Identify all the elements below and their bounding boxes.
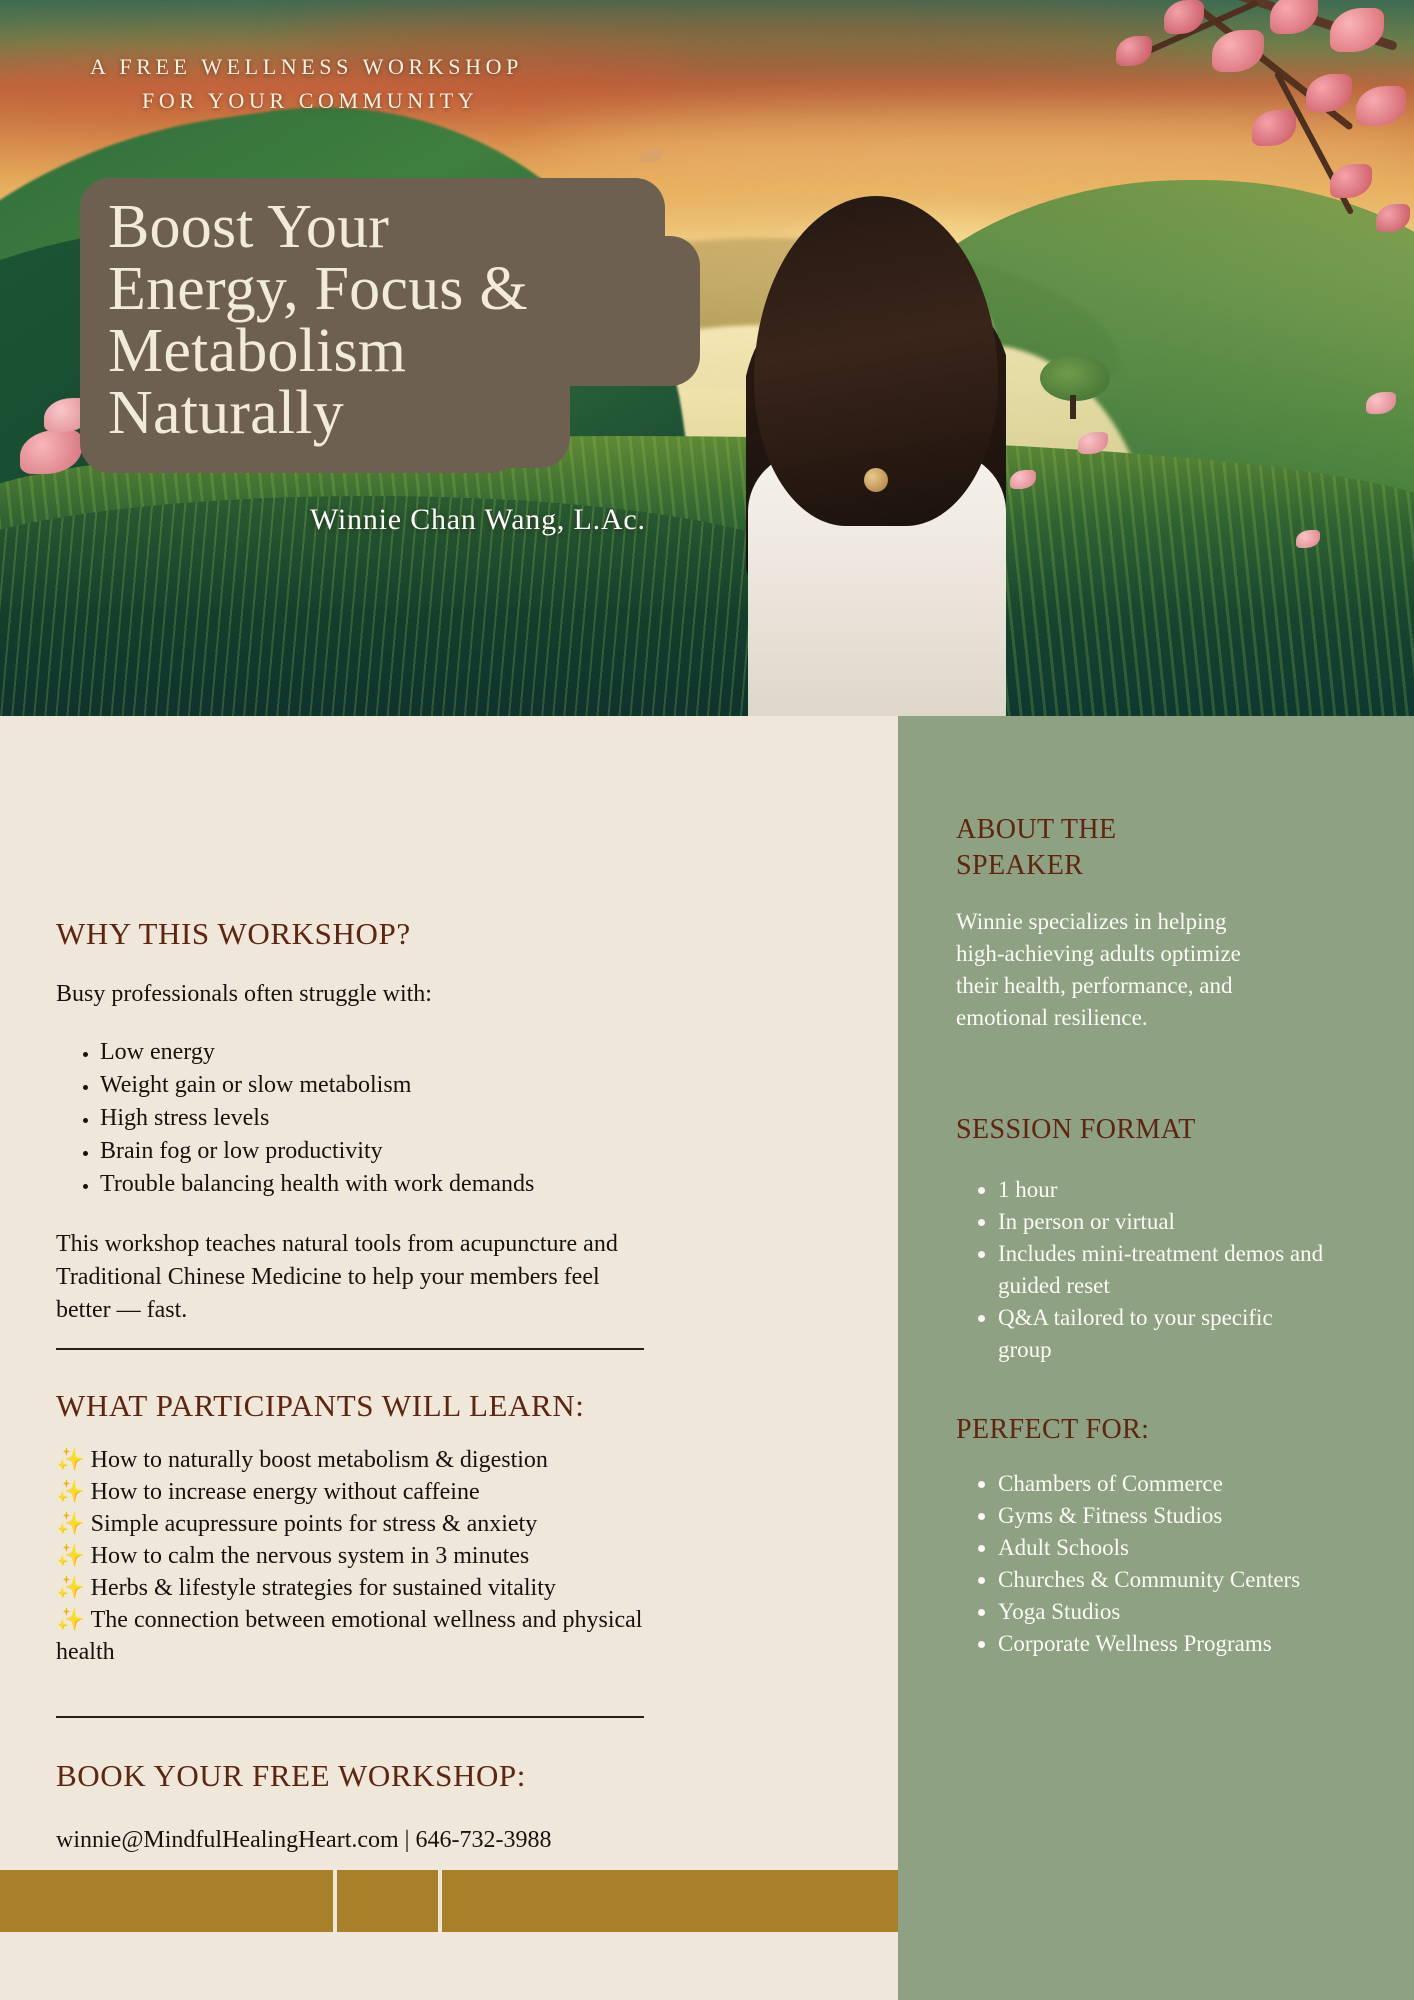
about-speaker-heading: ABOUT THE SPEAKER [956, 812, 1356, 884]
cloud-decoration [540, 120, 1414, 184]
list-item: Adult Schools [998, 1532, 1328, 1564]
title-line-2: Energy, Focus & [108, 258, 708, 320]
list-item: In person or virtual [998, 1206, 1328, 1238]
kicker-line-2: FOR YOUR COMMUNITY [142, 84, 790, 118]
list-item-label: How to calm the nervous system in 3 minu… [91, 1543, 530, 1569]
session-format-list: 1 hour In person or virtual Includes min… [956, 1174, 1328, 1366]
list-item: Chambers of Commerce [998, 1468, 1328, 1500]
kicker-text: A FREE WELLNESS WORKSHOP FOR YOUR COMMUN… [90, 50, 790, 118]
sparkle-icon: ✨ [56, 1575, 85, 1600]
list-item-label: How to increase energy without caffeine [91, 1479, 480, 1505]
list-item: ✨How to calm the nervous system in 3 min… [56, 1540, 656, 1572]
list-item: ✨Simple acupressure points for stress & … [56, 1508, 656, 1540]
why-workshop-intro: Busy professionals often struggle with: [56, 978, 656, 1011]
list-item: Brain fog or low productivity [100, 1135, 700, 1168]
about-heading-line-1: ABOUT THE [956, 812, 1356, 848]
list-item: Q&A tailored to your specific group [998, 1302, 1328, 1366]
sparkle-icon: ✨ [56, 1511, 85, 1536]
list-item: 1 hour [998, 1174, 1328, 1206]
title-line-1: Boost Your [108, 196, 708, 258]
perfect-for-list: Chambers of Commerce Gyms & Fitness Stud… [956, 1468, 1328, 1660]
sparkle-icon: ✨ [56, 1607, 85, 1632]
about-speaker-text: Winnie specializes in helping high-achie… [956, 906, 1266, 1034]
list-item-label: Herbs & lifestyle strategies for sustain… [91, 1575, 556, 1601]
list-item: Yoga Studios [998, 1596, 1328, 1628]
speaker-name: Winnie Chan Wang, L.Ac. [310, 503, 646, 537]
title-line-3: Metabolism [108, 320, 708, 382]
list-item: Trouble balancing health with work deman… [100, 1168, 700, 1201]
list-item-label: How to naturally boost metabolism & dige… [91, 1447, 548, 1473]
learn-list: ✨How to naturally boost metabolism & dig… [56, 1444, 656, 1668]
list-item: Churches & Community Centers [998, 1564, 1328, 1596]
sparkle-icon: ✨ [56, 1447, 85, 1472]
title-line-4: Naturally [108, 382, 708, 444]
list-item-label: The connection between emotional wellnes… [56, 1607, 642, 1665]
about-heading-line-2: SPEAKER [956, 848, 1356, 884]
sparkle-icon: ✨ [56, 1543, 85, 1568]
list-item: ✨The connection between emotional wellne… [56, 1604, 656, 1668]
learn-heading: WHAT PARTICIPANTS WILL LEARN: [56, 1388, 656, 1424]
session-format-heading: SESSION FORMAT [956, 1112, 1356, 1148]
why-workshop-bullet-list: Low energy Weight gain or slow metabolis… [56, 1036, 700, 1201]
list-item: Low energy [100, 1036, 700, 1069]
sparkle-icon: ✨ [56, 1479, 85, 1504]
poster-canvas: A FREE WELLNESS WORKSHOP FOR YOUR COMMUN… [0, 0, 1414, 2000]
list-item-label: Simple acupressure points for stress & a… [91, 1511, 538, 1537]
butterfly [640, 148, 662, 163]
list-item: Includes mini-treatment demos and guided… [998, 1238, 1328, 1302]
list-item: Corporate Wellness Programs [998, 1628, 1328, 1660]
right-sidebar-column: ABOUT THE SPEAKER Winnie specializes in … [898, 716, 1414, 2000]
list-item: ✨Herbs & lifestyle strategies for sustai… [56, 1572, 656, 1604]
bottom-gold-bar [0, 1870, 898, 1932]
perfect-for-heading: PERFECT FOR: [956, 1412, 1356, 1448]
contact-info[interactable]: winnie@MindfulHealingHeart.com | 646-732… [56, 1824, 696, 1857]
list-item: High stress levels [100, 1102, 700, 1135]
tree-trunk [1070, 395, 1076, 419]
page-title: Boost Your Energy, Focus & Metabolism Na… [108, 196, 708, 444]
list-item: ✨How to naturally boost metabolism & dig… [56, 1444, 656, 1476]
divider-1 [56, 1348, 644, 1350]
kicker-line-1: A FREE WELLNESS WORKSHOP [90, 54, 523, 79]
list-item: Gyms & Fitness Studios [998, 1500, 1328, 1532]
book-workshop-heading: BOOK YOUR FREE WORKSHOP: [56, 1758, 656, 1794]
divider-2 [56, 1716, 644, 1718]
speaker-portrait-photo [746, 196, 1006, 716]
why-workshop-heading: WHY THIS WORKSHOP? [56, 916, 656, 952]
list-item: ✨How to increase energy without caffeine [56, 1476, 656, 1508]
left-content-column: WHY THIS WORKSHOP? Busy professionals of… [0, 716, 898, 1932]
list-item: Weight gain or slow metabolism [100, 1069, 700, 1102]
why-workshop-outro: This workshop teaches natural tools from… [56, 1228, 632, 1327]
